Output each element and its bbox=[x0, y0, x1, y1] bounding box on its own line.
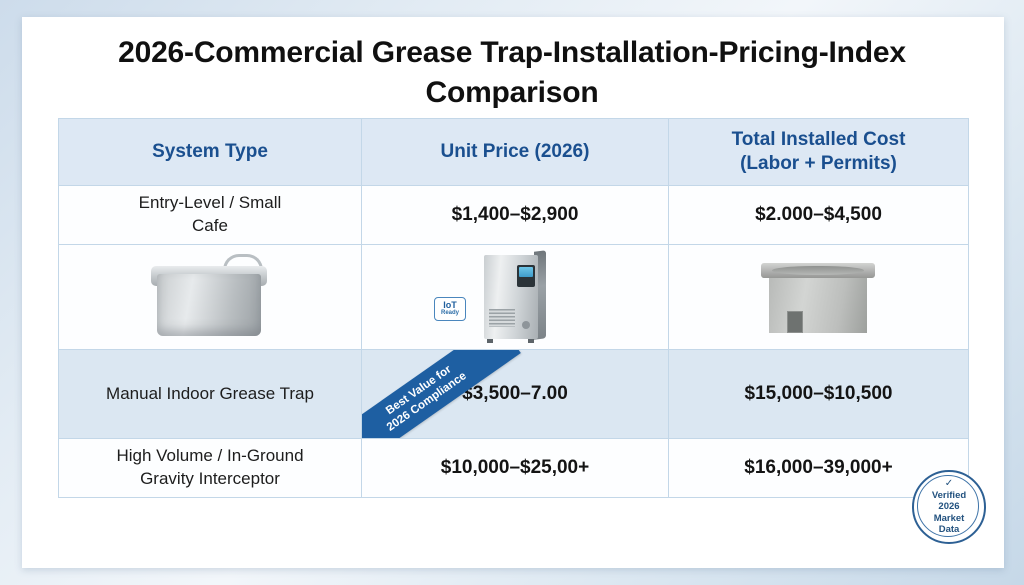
verified-market-data-seal: ✓ Verified 2026 Market Data bbox=[912, 470, 986, 544]
stainless-sink-icon bbox=[151, 254, 269, 340]
table-header-row: System Type Unit Price (2026) Total Inst… bbox=[59, 119, 969, 186]
column-header-total-installed-cost: Total Installed Cost (Labor + Permits) bbox=[669, 119, 969, 186]
cell-total-cost-manual-trap: $15,000–$10,500 bbox=[669, 350, 969, 439]
unit-foot-right bbox=[528, 339, 534, 343]
cell-unit-price-entry-level: $1,400–$2,900 bbox=[362, 186, 669, 245]
concrete-tank-icon bbox=[761, 257, 877, 337]
entry-level-line1: Entry-Level / Small bbox=[59, 192, 361, 215]
unit-vent-grille bbox=[489, 309, 515, 327]
cell-total-cost-entry-level: $2.000–$4,500 bbox=[669, 186, 969, 245]
table-row: Entry-Level / Small Cafe $1,400–$2,900 $… bbox=[59, 186, 969, 245]
entry-level-line2: Cafe bbox=[59, 215, 361, 238]
unit-foot-left bbox=[487, 339, 493, 343]
table-row: High Volume / In-Ground Gravity Intercep… bbox=[59, 439, 969, 498]
pricing-comparison-table: System Type Unit Price (2026) Total Inst… bbox=[58, 118, 969, 498]
content-card: 2026-Commercial Grease Trap-Installation… bbox=[22, 17, 1004, 568]
cell-unit-price-manual-trap: Best Value for 2026 Compliance $3,500–7.… bbox=[362, 350, 669, 439]
cell-image-sink bbox=[59, 245, 362, 350]
table-row-images: IoT Ready bbox=[59, 245, 969, 350]
slide-canvas: 2026-Commercial Grease Trap-Installation… bbox=[0, 0, 1024, 585]
cell-system-type-manual-trap: Manual Indoor Grease Trap bbox=[59, 350, 362, 439]
iot-ready-badge: IoT Ready bbox=[434, 297, 466, 321]
high-volume-line1: High Volume / In-Ground bbox=[59, 445, 361, 468]
tank-side-port bbox=[787, 311, 803, 333]
seal-inner-ring bbox=[917, 475, 979, 537]
sink-image bbox=[59, 247, 361, 347]
column-header-total-line2: (Labor + Permits) bbox=[669, 152, 968, 176]
cell-unit-price-high-volume: $10,000–$25,00+ bbox=[362, 439, 669, 498]
grease-unit-icon bbox=[484, 251, 546, 343]
unit-price-manual-trap-value: $3,500–7.00 bbox=[462, 383, 568, 404]
tank-body bbox=[769, 275, 867, 333]
cell-image-grease-unit: IoT Ready bbox=[362, 245, 669, 350]
column-header-unit-price: Unit Price (2026) bbox=[362, 119, 669, 186]
tank-rim bbox=[761, 263, 875, 278]
cell-system-type-entry-level: Entry-Level / Small Cafe bbox=[59, 186, 362, 245]
grease-recovery-unit-image: IoT Ready bbox=[362, 247, 668, 347]
column-header-system-type: System Type bbox=[59, 119, 362, 186]
sink-basin bbox=[157, 274, 261, 336]
iot-badge-label: IoT bbox=[437, 301, 463, 310]
iot-badge-sublabel: Ready bbox=[437, 310, 463, 317]
cell-system-type-high-volume: High Volume / In-Ground Gravity Intercep… bbox=[59, 439, 362, 498]
concrete-interceptor-image bbox=[669, 247, 968, 347]
table-row: Manual Indoor Grease Trap Best Value for… bbox=[59, 350, 969, 439]
page-title: 2026-Commercial Grease Trap-Installation… bbox=[112, 33, 912, 113]
unit-knob bbox=[522, 321, 530, 329]
cell-image-interceptor bbox=[669, 245, 969, 350]
unit-display-screen bbox=[517, 265, 535, 287]
high-volume-line2: Gravity Interceptor bbox=[59, 468, 361, 491]
column-header-total-line1: Total Installed Cost bbox=[669, 128, 968, 152]
